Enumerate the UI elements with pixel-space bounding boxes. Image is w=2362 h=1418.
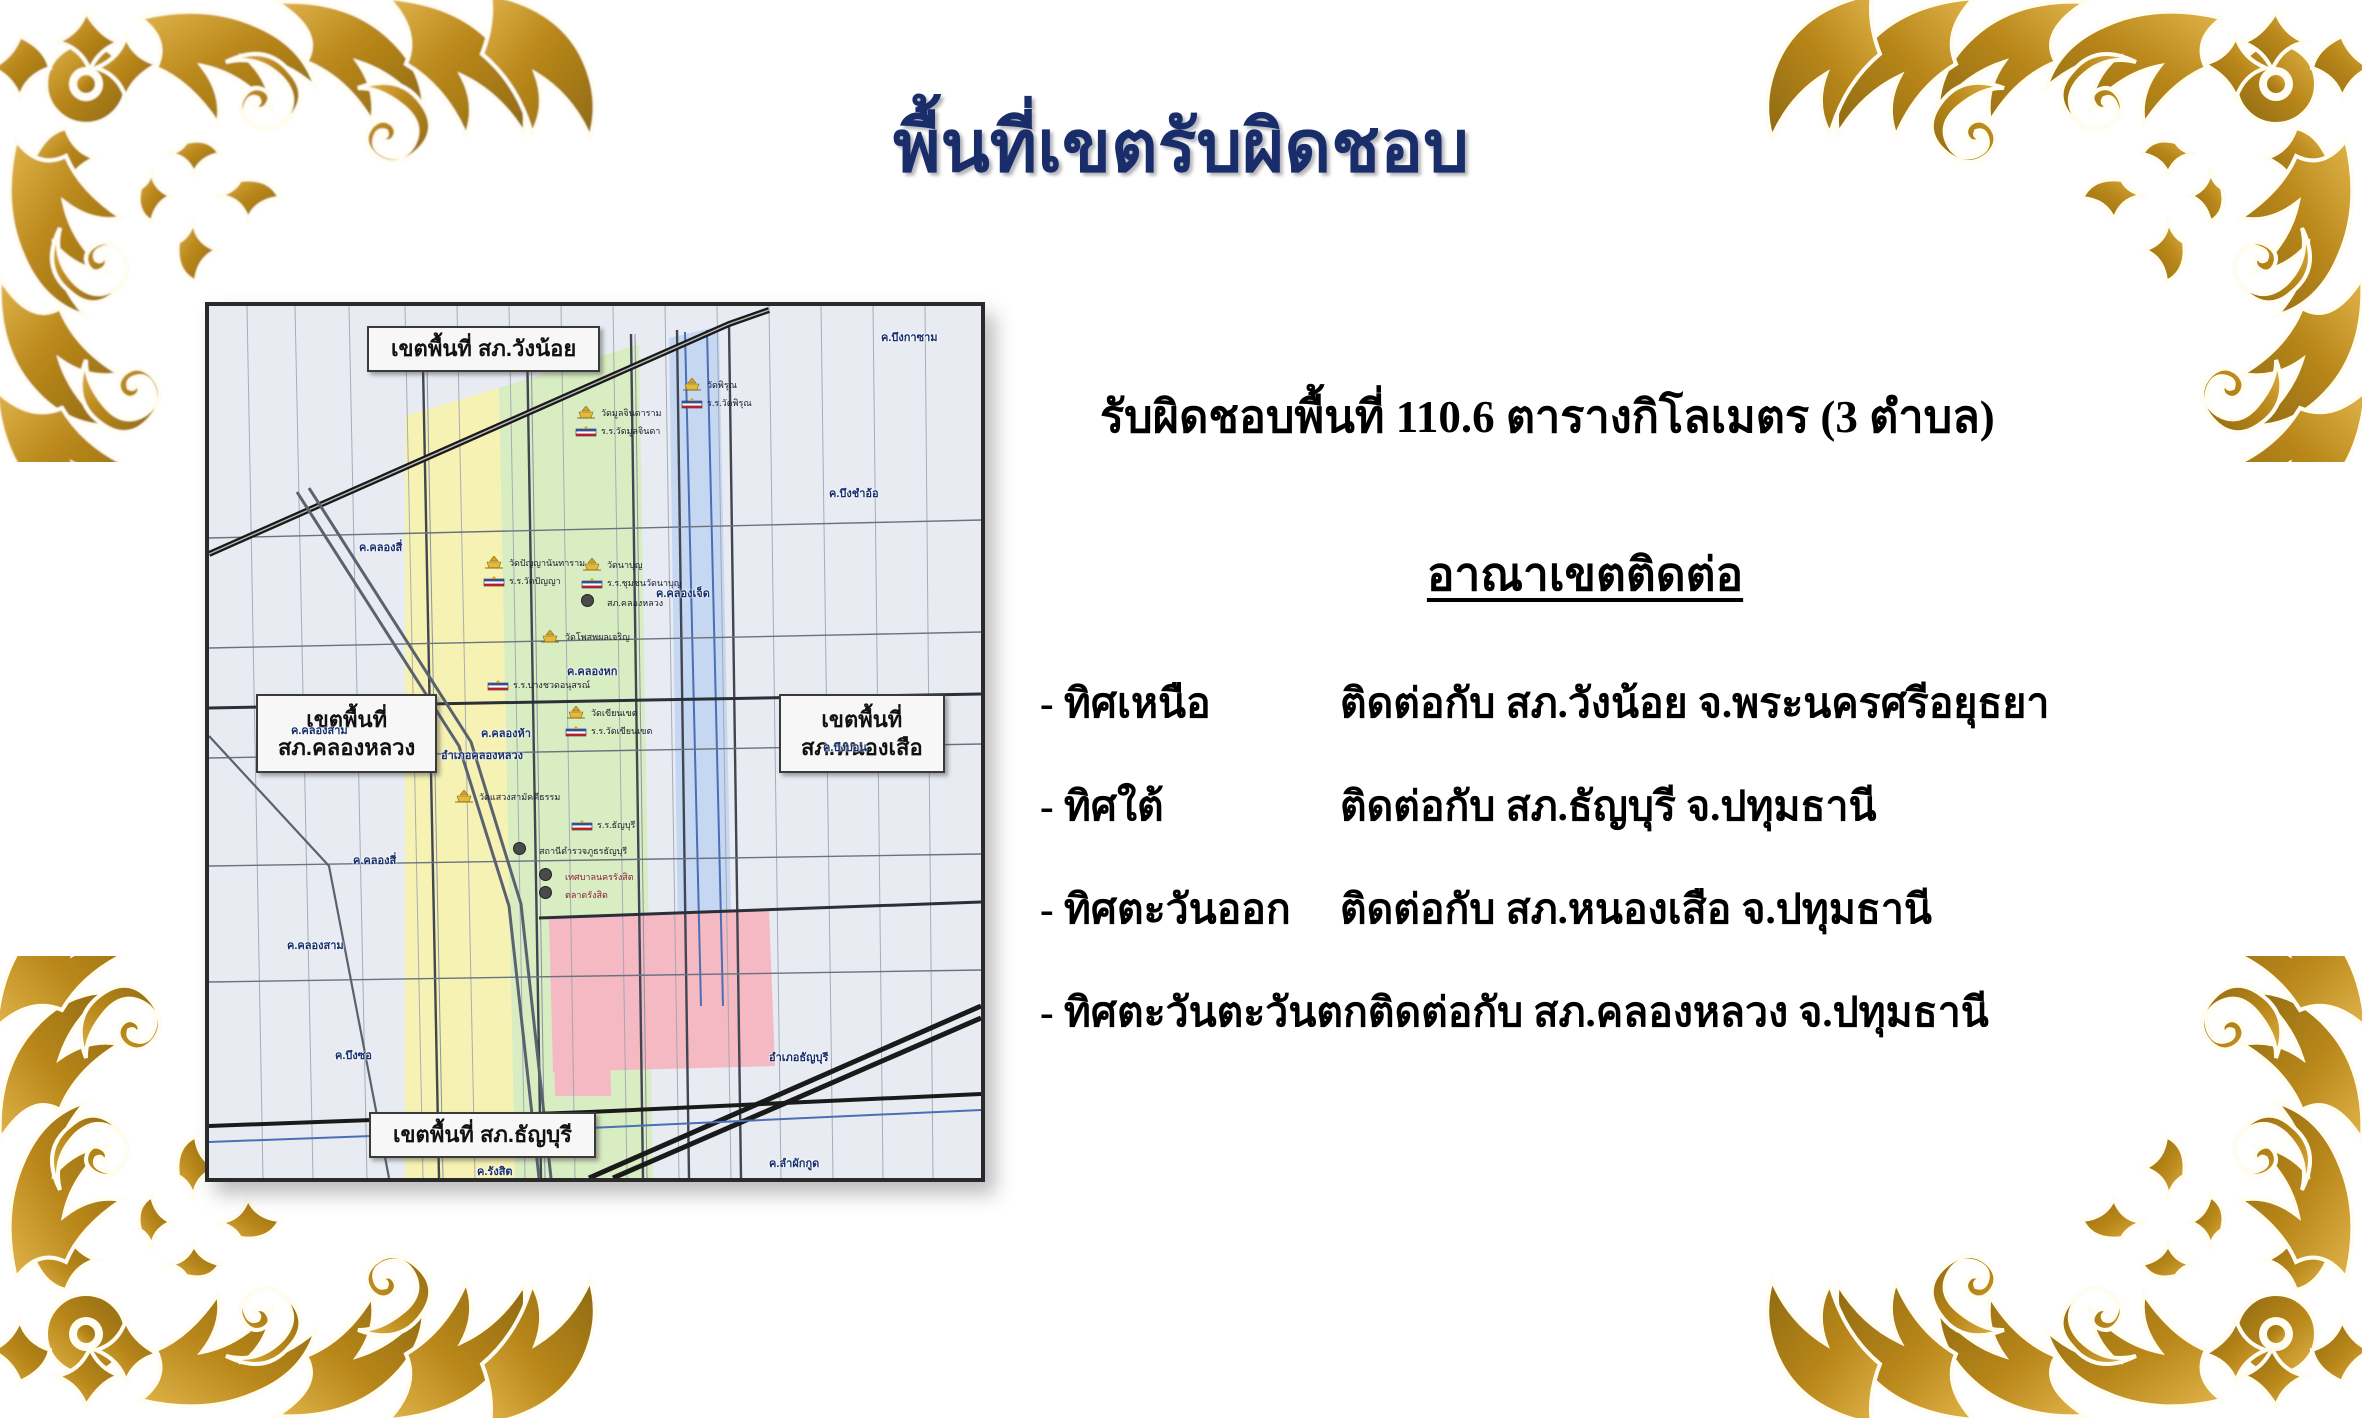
map-poi-label: สถานีตำรวจภูธรธัญบุรี <box>539 844 627 858</box>
content-column: รับผิดชอบพื้นที่ 110.6 ตารางกิโลเมตร (3 … <box>1040 380 2310 1083</box>
map-label-north-zone: เขตพื้นที่ สภ.วังน้อย <box>367 326 600 372</box>
map-canal-label: ค.คลองห้า <box>481 724 531 742</box>
boundary-direction-name: - ทิศตะวันตะวันตก <box>1040 980 1368 1045</box>
school-icon <box>487 676 509 695</box>
map-canal-label: ค.คลองสาม <box>287 936 344 954</box>
map-canal-label: ค.บึงซอ <box>335 1046 372 1064</box>
map-poi-label: ร.ร.ธัญบุรี <box>597 818 635 832</box>
map-poi-label: วัดมูลจินดาราม <box>601 406 662 420</box>
map-poi-label: ตลาดรังสิต <box>565 888 608 902</box>
map-label-east-zone: เขตพื้นที่ สภ.หนองเสือ <box>779 694 945 773</box>
map-poi-label: วัดแสวงสามัคคีธรรม <box>479 790 560 804</box>
map-panel[interactable]: เขตพื้นที่ สภ.วังน้อย เขตพื้นที่ สภ.ธัญบ… <box>205 302 985 1182</box>
boundary-direction-row: - ทิศเหนือติดต่อกับ สภ.วังน้อย จ.พระนครศ… <box>1040 671 2310 736</box>
temple-icon <box>681 376 703 395</box>
school-icon <box>571 816 593 835</box>
contact-boundaries-heading: อาณาเขตติดต่อ <box>1040 538 2130 611</box>
boundary-direction-detail: ติดต่อกับ สภ.ธัญบุรี จ.ปทุมธานี <box>1340 774 1877 839</box>
boundary-direction-detail: ติดต่อกับ สภ.คลองหลวง จ.ปทุมธานี <box>1368 980 1989 1045</box>
police-station-icon <box>581 594 594 607</box>
boundary-direction-row: - ทิศใต้ติดต่อกับ สภ.ธัญบุรี จ.ปทุมธานี <box>1040 774 2310 839</box>
temple-icon <box>483 554 505 573</box>
school-icon <box>565 722 587 741</box>
boundary-direction-list: - ทิศเหนือติดต่อกับ สภ.วังน้อย จ.พระนครศ… <box>1040 671 2310 1045</box>
map-canal-label: ค.บึงกาซาม <box>881 328 938 346</box>
area-statement: รับผิดชอบพื้นที่ 110.6 ตารางกิโลเมตร (3 … <box>1100 380 2310 452</box>
police-station-icon <box>513 842 526 855</box>
map-poi-label: ร.ร.วัดพิรุณ <box>707 396 752 410</box>
slide-root: พื้นที่เขตรับผิดชอบ <box>0 0 2362 1418</box>
map-canal-label: อำเภอธัญบุรี <box>769 1048 828 1066</box>
map-canal-label: ค.บึงบอน <box>823 738 867 756</box>
map-poi-label: วัดเขียนเขต <box>591 706 638 720</box>
temple-icon <box>575 404 597 423</box>
map-poi-label: วัดพิรุณ <box>707 378 737 392</box>
map-poi-label: วัดโพสพผลเจริญ <box>565 630 630 644</box>
boundary-direction-name: - ทิศใต้ <box>1040 774 1340 839</box>
map-canal-label: ค.คลองสี่ <box>359 538 402 556</box>
place-dot-icon <box>539 886 552 899</box>
temple-icon <box>565 704 587 723</box>
map-canal-label: ค.รังสิต <box>477 1162 513 1180</box>
school-icon <box>581 574 603 593</box>
school-icon <box>575 422 597 441</box>
map-poi-label: วัดปัญญานันทาราม <box>509 556 585 570</box>
boundary-direction-name: - ทิศเหนือ <box>1040 671 1340 736</box>
temple-icon <box>453 788 475 807</box>
map-poi-label: เทศบาลนครรังสิต <box>565 870 634 884</box>
map-poi-label: สภ.คลองหลวง <box>607 596 663 610</box>
school-icon <box>681 394 703 413</box>
place-dot-icon <box>539 868 552 881</box>
map-poi-label: ร.ร.วัดเขียนเขต <box>591 724 652 738</box>
temple-icon <box>539 628 561 647</box>
map-canal-label: ค.คลองสาม <box>291 721 348 739</box>
boundary-direction-row: - ทิศตะวันออกติดต่อกับ สภ.หนองเสือ จ.ปทุ… <box>1040 877 2310 942</box>
boundary-direction-detail: ติดต่อกับ สภ.หนองเสือ จ.ปทุมธานี <box>1340 877 1932 942</box>
map-poi-label: วัดนาบุญ <box>607 558 643 572</box>
school-icon <box>483 572 505 591</box>
boundary-direction-detail: ติดต่อกับ สภ.วังน้อย จ.พระนครศรีอยุธยา <box>1340 671 2049 736</box>
map-poi-label: ร.ร.ชุมชนวัดนาบุญ <box>607 576 681 590</box>
map-canal-label: ค.คลองสี่ <box>353 851 396 869</box>
map-label-south-zone: เขตพื้นที่ สภ.ธัญบุรี <box>369 1112 596 1158</box>
map-canal-label: ค.ลำผักกูด <box>769 1154 819 1172</box>
map-canal-label: อำเภอคลองหลวง <box>441 746 523 764</box>
map-label-east-line1: เขตพื้นที่ <box>801 706 923 734</box>
temple-icon <box>581 556 603 575</box>
map-canal-label: ค.บึงชำอ้อ <box>829 484 879 502</box>
map-poi-label: ร.ร.วัดปัญญา <box>509 574 561 588</box>
map-poi-label: ร.ร.วัดมูลจินดา <box>601 424 660 438</box>
boundary-direction-name: - ทิศตะวันออก <box>1040 877 1340 942</box>
page-title: พื้นที่เขตรับผิดชอบ <box>0 88 2362 203</box>
map-poi-label: ร.ร.บางชวดอนุสรณ์ <box>513 678 590 692</box>
boundary-direction-row: - ทิศตะวันตะวันตกติดต่อกับ สภ.คลองหลวง จ… <box>1040 980 2310 1045</box>
